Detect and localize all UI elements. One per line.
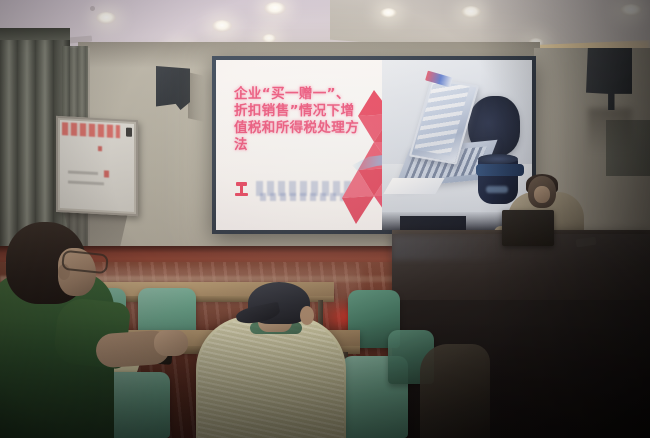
presenter-laptop-icon[interactable] [502,210,554,246]
attendee-right-edge-body [420,344,490,438]
speaker-right-shadow [588,108,632,154]
downlight-9 [620,4,642,16]
downlight-7 [461,6,481,18]
blue-bin-highlight [486,186,508,193]
speaker-left-shadow [188,72,204,121]
attendee-cream-sweater-ear [300,306,314,325]
photo-paper [383,178,444,194]
meeting-room-photo: 企业“买一赠一”、折扣销售”情况下增值税和所得税处理方法 [0,0,650,438]
wall-speaker-left-icon [156,66,190,110]
presenter-face [534,186,550,203]
attendee-green-polo-hand [154,330,188,356]
photo-mug-rim [478,154,518,164]
podium-light-spill [392,236,512,260]
slide-subtext-line-2 [260,193,344,201]
downlight-3 [212,20,232,32]
attendee-cream-sweater-texture [198,318,344,438]
whiteboard [56,116,138,216]
curtain-rail [0,28,70,40]
downlight-6 [380,8,397,18]
whiteboard-clip [126,128,132,137]
slide-logo-base [235,193,248,196]
whiteboard-red-mark-2 [98,146,102,151]
ceiling-sensor [90,6,95,11]
downlight-4 [264,2,286,15]
downlight-1 [96,12,116,24]
whiteboard-red-mark [104,170,109,177]
